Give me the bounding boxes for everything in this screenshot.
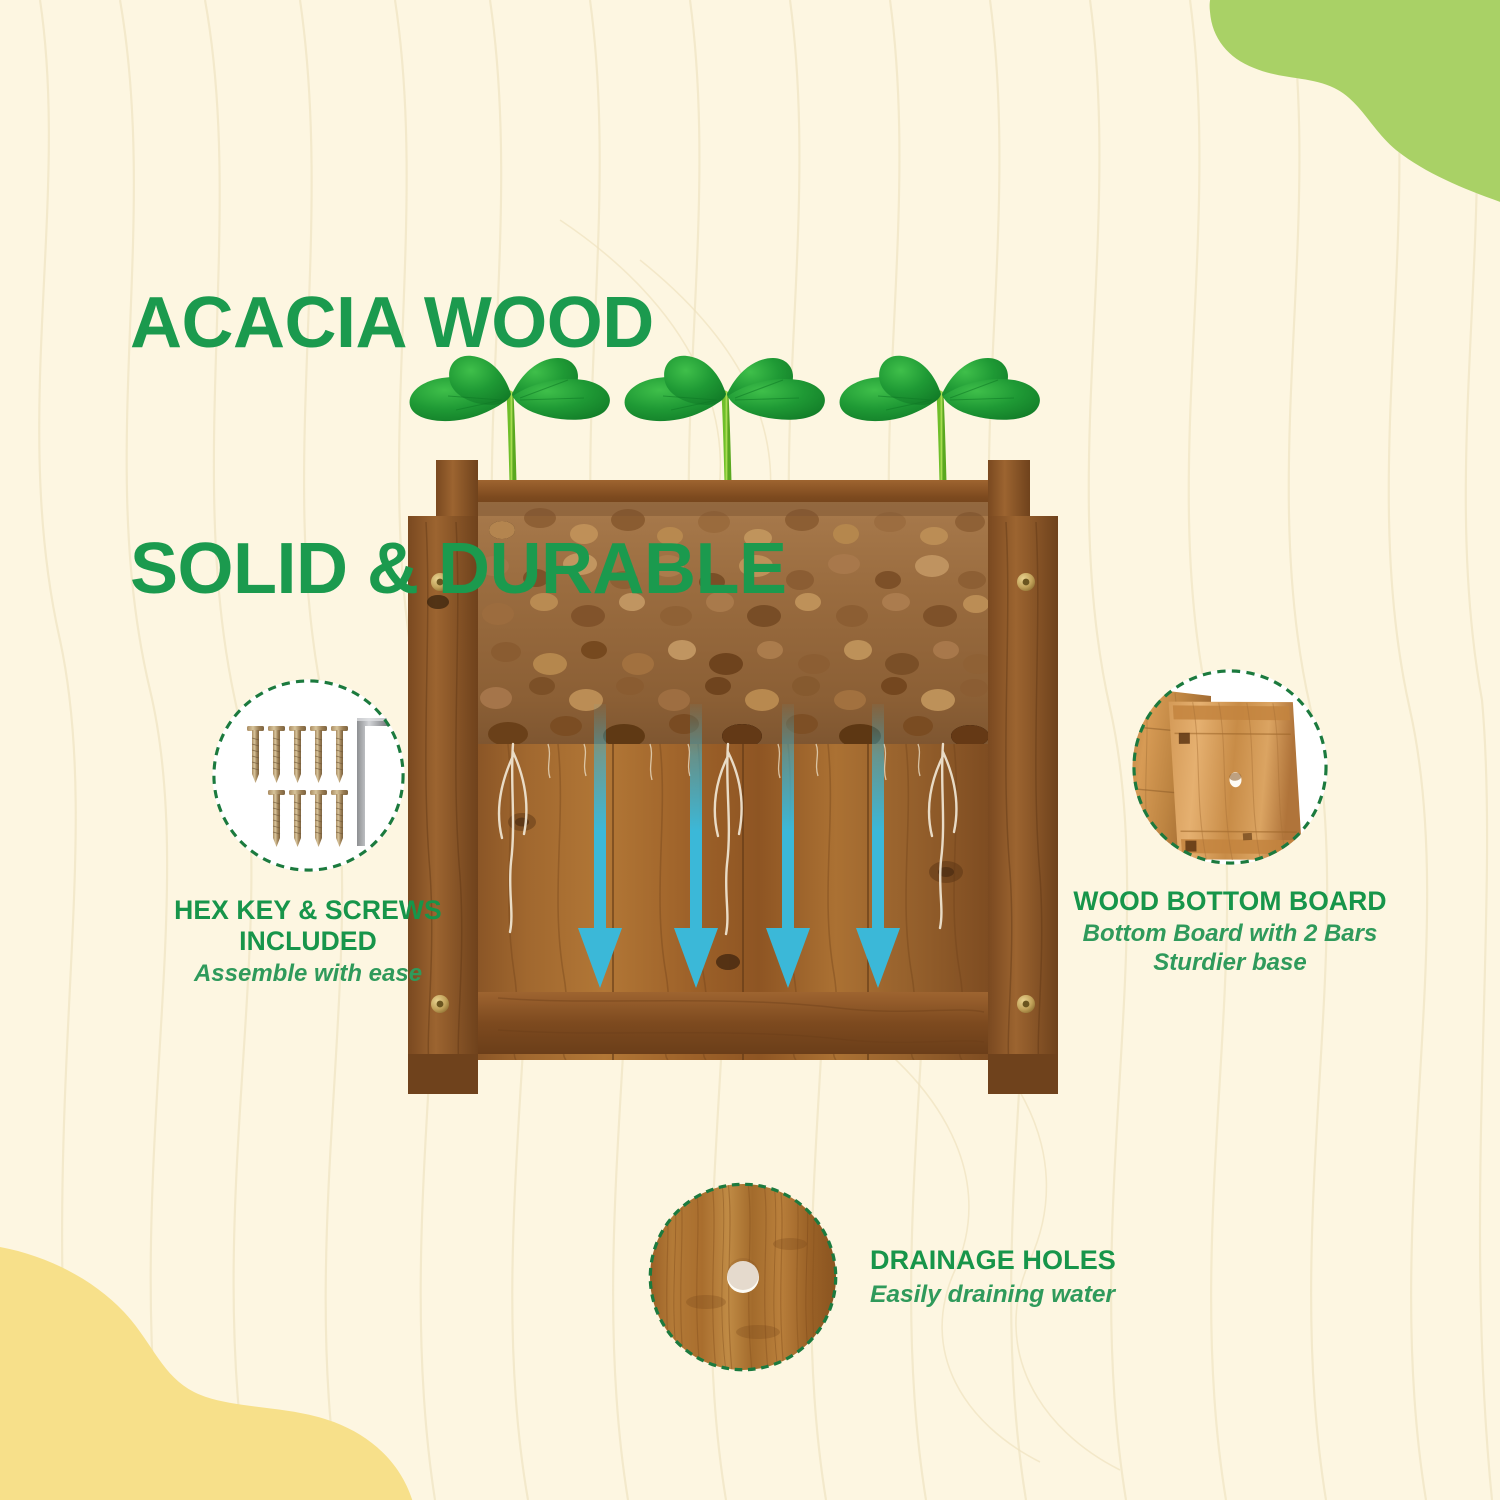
feature-title-line-1: HEX KEY & SCREWS — [174, 895, 442, 925]
page-title-line-1: ACACIA WOOD — [130, 282, 787, 364]
feature-drainage-holes: DRAINAGE HOLES Easily draining water — [648, 1182, 1208, 1372]
infographic-poster: ACACIA WOOD SOLID & DURABLE — [0, 0, 1500, 1500]
feature-title-line-2: INCLUDED — [239, 926, 377, 956]
feature-subtitle: Bottom Board with 2 Bars Sturdier base — [1020, 920, 1440, 978]
bottom-left-yellow-blob — [0, 1206, 414, 1500]
feature-hex-key-screws: HEX KEY & SCREWS INCLUDED Assemble with … — [108, 678, 508, 989]
feature-subtitle: Easily draining water — [870, 1280, 1116, 1309]
feature-subtitle: Assemble with ease — [108, 960, 508, 989]
planter-foot — [408, 1054, 478, 1094]
feature-icon-circle — [1131, 668, 1329, 866]
top-right-lime-blob — [1166, 0, 1500, 204]
feature-text: DRAINAGE HOLES Easily draining water — [870, 1245, 1116, 1309]
feature-title: DRAINAGE HOLES — [870, 1245, 1116, 1277]
feature-title: WOOD BOTTOM BOARD — [1020, 886, 1440, 917]
feature-subtitle-line-2: Sturdier base — [1153, 949, 1306, 976]
dashed-circle-border — [648, 1182, 838, 1372]
feature-wood-bottom-board: WOOD BOTTOM BOARD Bottom Board with 2 Ba… — [1020, 668, 1440, 978]
feature-subtitle-line-1: Bottom Board with 2 Bars — [1083, 920, 1378, 947]
page-title: ACACIA WOOD SOLID & DURABLE — [130, 118, 787, 775]
dashed-circle-border — [211, 678, 406, 873]
dashed-circle-border — [1131, 668, 1329, 866]
page-title-line-2: SOLID & DURABLE — [130, 528, 787, 610]
feature-icon-circle — [211, 678, 406, 873]
feature-title: HEX KEY & SCREWS INCLUDED — [108, 895, 508, 957]
planter-foot — [988, 1054, 1058, 1094]
feature-icon-circle — [648, 1182, 838, 1372]
